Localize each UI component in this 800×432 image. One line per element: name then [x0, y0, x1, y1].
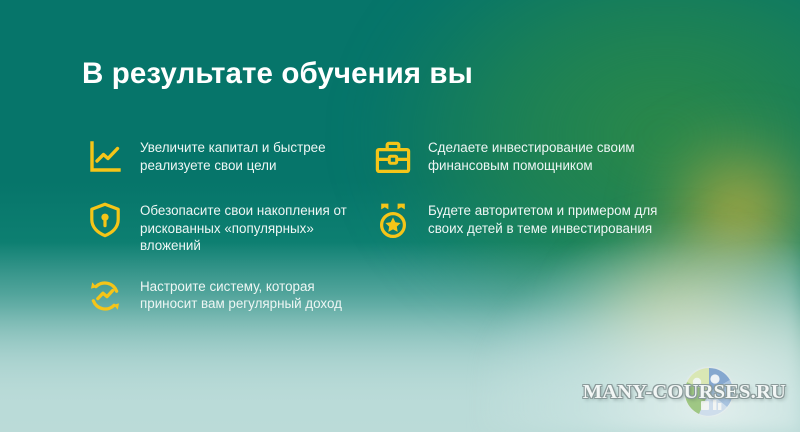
- benefit-text: Обезопасите свои накопления от рискованн…: [140, 201, 374, 255]
- benefit-item: Будете авторитетом и примером для своих …: [374, 201, 674, 239]
- benefit-item: Сделаете инвестирование своим финансовым…: [374, 138, 674, 176]
- medal-star-icon: [374, 201, 412, 239]
- benefits-column-left: Увеличите капитал и быстрее реализуете с…: [86, 138, 374, 337]
- briefcase-icon: [374, 138, 412, 176]
- benefit-item: Обезопасите свои накопления от рискованн…: [86, 201, 374, 255]
- shield-lock-icon: [86, 201, 124, 239]
- benefits-columns: Увеличите капитал и быстрее реализуете с…: [86, 138, 706, 337]
- watermark: MANY-COURSES.RU: [616, 364, 792, 422]
- benefits-column-right: Сделаете инвестирование своим финансовым…: [374, 138, 674, 337]
- growth-chart-icon: [86, 138, 124, 176]
- page-title: В результате обучения вы: [82, 57, 473, 91]
- refresh-cycle-chart-icon: [86, 277, 124, 315]
- slide-canvas: В результате обучения вы Увеличите капит…: [0, 0, 800, 432]
- benefit-text: Увеличите капитал и быстрее реализуете с…: [140, 138, 374, 174]
- benefit-item: Увеличите капитал и быстрее реализуете с…: [86, 138, 374, 176]
- watermark-text: MANY-COURSES.RU: [583, 381, 786, 404]
- slide-content: В результате обучения вы Увеличите капит…: [0, 0, 800, 432]
- benefit-item: Настроите систему, которая приносит вам …: [86, 277, 374, 315]
- benefit-text: Настроите систему, которая приносит вам …: [140, 277, 374, 313]
- benefit-text: Будете авторитетом и примером для своих …: [428, 201, 674, 237]
- benefit-text: Сделаете инвестирование своим финансовым…: [428, 138, 674, 174]
